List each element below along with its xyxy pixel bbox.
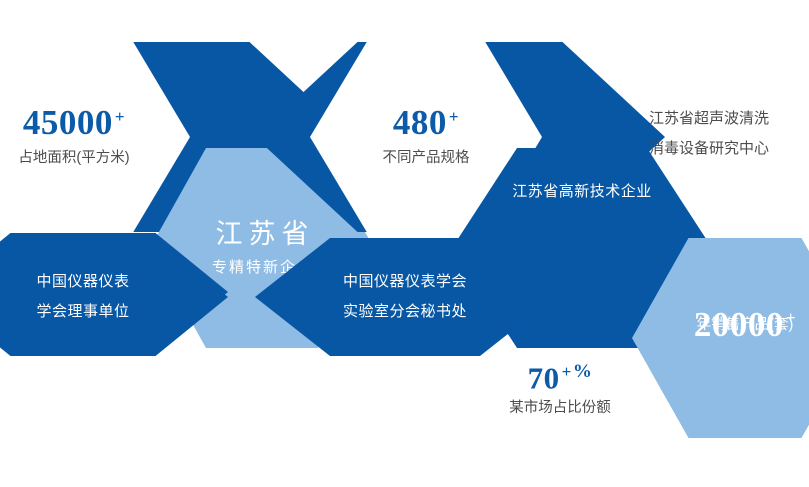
stat-value-area-superscript: + bbox=[115, 107, 125, 126]
stat-value-area-number: 45000 bbox=[23, 103, 113, 142]
research-center-line2: 消毒设备研究中心 bbox=[649, 134, 769, 164]
stat-value-specs-number: 480 bbox=[393, 103, 447, 142]
lab-branch-line2: 实验室分会秘书处 bbox=[343, 297, 467, 327]
research-center-text: 江苏省超声波清洗 消毒设备研究中心 bbox=[649, 104, 769, 164]
instrument-council-line1: 中国仪器仪表 bbox=[36, 267, 129, 297]
stat-card-specs-content: 480+ 不同产品规格 bbox=[310, 36, 542, 238]
stat-card-area[interactable]: 45000+ 占地面积(平方米) bbox=[0, 36, 190, 238]
stat-caption-specs: 不同产品规格 bbox=[383, 149, 470, 169]
province-sme-title: 江苏省 bbox=[210, 219, 315, 250]
stat-card-specs[interactable]: 480+ 不同产品规格 bbox=[310, 36, 542, 238]
stat-value-specs-superscript: + bbox=[449, 107, 459, 126]
research-center-line1: 江苏省超声波清洗 bbox=[649, 104, 769, 134]
stat-caption-market-share: 某市场占比份额 bbox=[470, 399, 650, 419]
stat-value-market-share-unit: % bbox=[573, 361, 593, 382]
stat-value-market-share-superscript: + bbox=[562, 362, 572, 381]
stat-value-market-share-number: 70 bbox=[528, 360, 560, 395]
stat-value-market-share: 70+% bbox=[470, 362, 650, 393]
stat-value-area: 45000+ bbox=[23, 105, 125, 140]
stat-caption-annual-sales: 年销售产品(套) bbox=[697, 316, 794, 336]
lab-branch-line1: 中国仪器仪表学会 bbox=[343, 267, 467, 297]
stat-card-market-share[interactable]: 70+% 某市场占比份额 bbox=[470, 362, 650, 419]
stat-caption-area: 占地面积(平方米) bbox=[18, 149, 129, 169]
instrument-council-line2: 学会理事单位 bbox=[36, 297, 129, 327]
stat-card-area-content: 45000+ 占地面积(平方米) bbox=[0, 36, 190, 238]
stat-value-specs: 480+ bbox=[393, 105, 459, 140]
infographic-canvas: 45000+ 占地面积(平方米) 江苏省 专精特新企业 480+ 不同产品规格 … bbox=[0, 0, 809, 487]
